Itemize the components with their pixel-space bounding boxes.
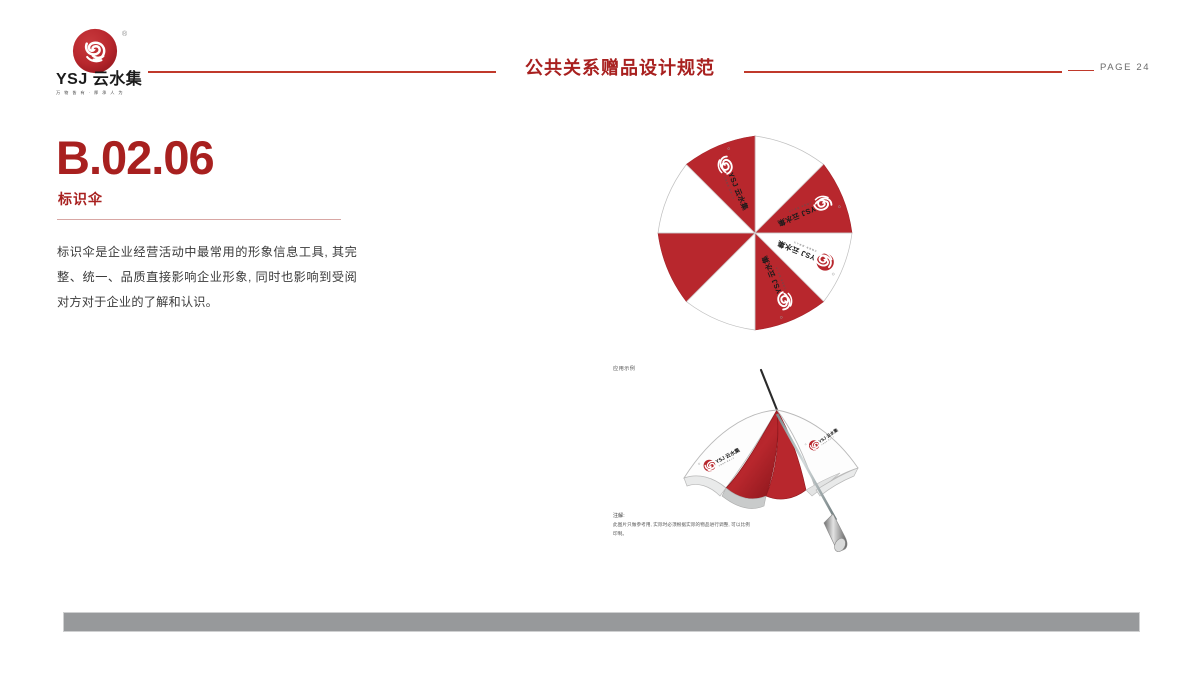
vi-manual-page: ® YSJ 云水集 万 物 皆 有 · 厚 承 人 为 公共关系赠品设计规范 P… (0, 0, 1200, 676)
logo-tagline: 万 物 皆 有 · 厚 承 人 为 (56, 91, 152, 95)
logo-chinese-text: 云水集 (93, 72, 143, 88)
note-title: 注解: (613, 512, 753, 521)
header-rule-left (148, 71, 496, 73)
logo-wordmark: YSJ 云水集 万 物 皆 有 · 厚 承 人 为 (56, 72, 152, 94)
section-body-text: 标识伞是企业经营活动中最常用的形象信息工具, 其完整、统一、品质直接影响企业形象… (57, 240, 357, 315)
page-header: ® YSJ 云水集 万 物 皆 有 · 厚 承 人 为 公共关系赠品设计规范 P… (0, 0, 1200, 110)
header-rule-right (744, 71, 1062, 73)
page-number-rule (1068, 70, 1094, 71)
registered-mark: ® (122, 31, 127, 38)
page-number-label: PAGE 24 (1100, 63, 1150, 73)
ysj-emblem-icon (72, 28, 118, 74)
artwork-caption: 应用示例 (613, 366, 635, 373)
umbrella-top-view-artwork: YSJ 云水集 万物皆有·厚承人为 YSJ 云水集 万物皆有·厚承人为 (620, 118, 890, 333)
artwork-note: 注解: 此图片只做参考用, 实际时必须根据实际的物品进行调整, 可以比例印制。 (613, 512, 753, 538)
logo-latin-text: YSJ (56, 72, 88, 88)
page-title: 公共关系赠品设计规范 (500, 58, 740, 80)
brand-logo: ® YSJ 云水集 万 物 皆 有 · 厚 承 人 为 (56, 28, 152, 106)
footer-color-bar (63, 612, 1140, 632)
section-divider (57, 219, 341, 220)
section-name: 标识伞 (58, 192, 103, 206)
section-code: B.02.06 (56, 134, 214, 181)
note-body: 此图片只做参考用, 实际时必须根据实际的物品进行调整, 可以比例印制。 (613, 521, 753, 538)
